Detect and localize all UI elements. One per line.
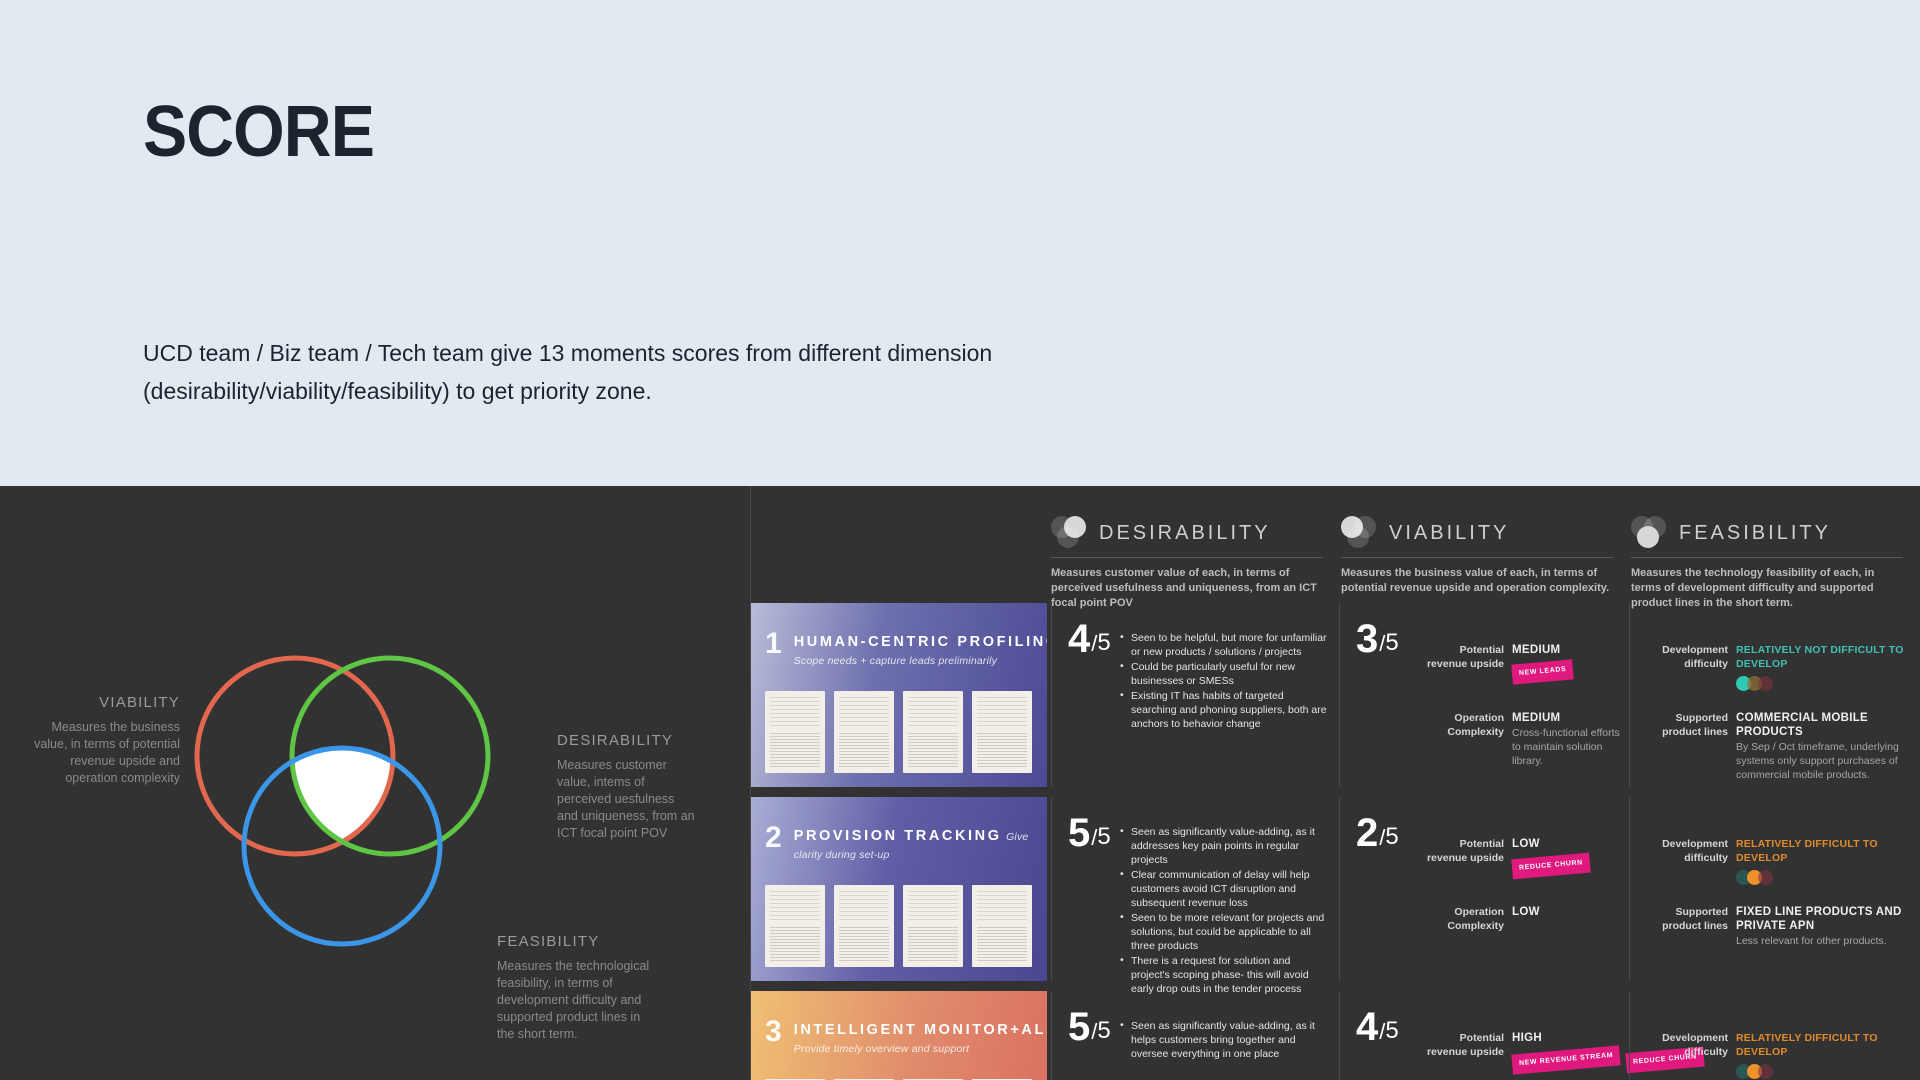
page-title: SCORE — [143, 96, 374, 168]
venn-label-feasibility-title: FEASIBILITY — [497, 933, 657, 950]
venn-diagram-panel: VIABILITY Measures the business value, i… — [0, 486, 750, 1080]
sketch-thumbnail — [834, 691, 894, 773]
desirability-score: 4/5 — [1068, 621, 1111, 657]
list-item: Existing IT has habits of targeted searc… — [1120, 689, 1329, 731]
moment-number: 2 — [765, 823, 782, 853]
sketch-thumbnail — [765, 691, 825, 773]
viability-score: 4/5 — [1356, 1009, 1399, 1045]
score-value: 2 — [1356, 815, 1378, 851]
moment-thumbnails — [765, 691, 1032, 773]
desirability-cell: 4/5 Seen to be helpful, but more for unf… — [1051, 603, 1339, 787]
revenue-tags: REDUCE CHURN — [1512, 856, 1590, 876]
development-difficulty-row: Development difficulty RELATIVELY DIFFIC… — [1644, 1031, 1913, 1079]
development-difficulty-row: Development difficulty RELATIVELY DIFFIC… — [1644, 837, 1913, 885]
venn-label-viability-title: VIABILITY — [30, 694, 180, 711]
sketch-thumbnail — [972, 691, 1032, 773]
score-denominator: 5 — [1097, 629, 1110, 657]
viability-cell: 3/5 Potential revenue upside MEDIUM NEW … — [1339, 603, 1629, 787]
list-item: Clear communication of delay will help c… — [1120, 868, 1329, 910]
score-denominator: 5 — [1097, 1017, 1110, 1045]
supported-product-lines-label: Supported product lines — [1644, 905, 1728, 948]
potential-revenue-label: Potential revenue upside — [1424, 643, 1504, 682]
venn-circles-icon — [1631, 516, 1669, 550]
development-difficulty-value: RELATIVELY NOT DIFFICULT TO DEVELOP — [1736, 644, 1904, 670]
table-row: 1 HUMAN-CENTRIC PROFILING Scope needs + … — [751, 603, 1920, 787]
supported-product-lines-value: FIXED LINE PRODUCTS AND PRIVATE APN — [1736, 906, 1902, 932]
moment-title: HUMAN-CENTRIC PROFILING — [794, 634, 1047, 650]
difficulty-dots-icon — [1736, 870, 1913, 885]
moment-thumbnails — [765, 885, 1032, 967]
operation-complexity-value: LOW — [1512, 906, 1540, 918]
list-item: Seen as significantly value-adding, as i… — [1120, 1019, 1329, 1061]
venn-label-feasibility: FEASIBILITY Measures the technological f… — [497, 933, 657, 1043]
venn-label-desirability-title: DESIRABILITY — [557, 732, 697, 749]
potential-revenue-value: LOW — [1512, 838, 1540, 850]
venn-label-desirability-body: Measures customer value, intems of perce… — [557, 757, 697, 842]
matrix-header: DESIRABILITY Measures customer value of … — [751, 486, 1920, 603]
viability-score: 2/5 — [1356, 815, 1399, 851]
score-denominator: 5 — [1385, 629, 1398, 657]
potential-revenue-row: Potential revenue upside MEDIUM NEW LEAD… — [1424, 643, 1621, 682]
operation-complexity-row: Operation Complexity MEDIUM Cross-functi… — [1424, 711, 1621, 768]
difficulty-dots-icon — [1736, 1064, 1913, 1079]
potential-revenue-value: MEDIUM — [1512, 644, 1560, 656]
sketch-thumbnail — [903, 691, 963, 773]
venn-circles-icon — [1051, 516, 1089, 550]
moment-card[interactable]: 2 PROVISION TRACKING Give clarity during… — [751, 797, 1047, 981]
score-denominator: 5 — [1385, 823, 1398, 851]
operation-complexity-label: Operation Complexity — [1424, 905, 1504, 933]
table-row: 3 INTELLIGENT MONITOR+ALERT Provide time… — [751, 991, 1920, 1080]
venn-circles-icon — [1341, 516, 1379, 550]
score-value: 4 — [1356, 1009, 1378, 1045]
feasibility-cell: Development difficulty RELATIVELY DIFFIC… — [1629, 991, 1920, 1080]
potential-revenue-label: Potential revenue upside — [1424, 1031, 1504, 1070]
status-badge: NEW REVENUE STREAM — [1511, 1045, 1621, 1074]
list-item: Seen as significantly value-adding, as i… — [1120, 825, 1329, 867]
dimension-header-feasibility: FEASIBILITY Measures the technology feas… — [1631, 516, 1903, 611]
operation-complexity-value: MEDIUM — [1512, 712, 1560, 724]
supported-product-lines-label: Supported product lines — [1644, 711, 1728, 782]
moment-subtitle: Scope needs + capture leads preliminaril… — [794, 655, 997, 667]
score-value: 5 — [1068, 815, 1090, 851]
dimension-title-desirability: DESIRABILITY — [1099, 522, 1271, 545]
score-board-section: VIABILITY Measures the business value, i… — [0, 486, 1920, 1080]
moment-number: 3 — [765, 1017, 782, 1047]
venn-label-viability-body: Measures the business value, in terms of… — [30, 719, 180, 787]
desirability-bullets: Seen as significantly value-adding, as i… — [1120, 1019, 1329, 1062]
divider — [1341, 557, 1613, 558]
feasibility-cell: Development difficulty RELATIVELY NOT DI… — [1629, 603, 1920, 787]
score-denominator: 5 — [1385, 1017, 1398, 1045]
moment-number: 1 — [765, 629, 782, 659]
development-difficulty-value: RELATIVELY DIFFICULT TO DEVELOP — [1736, 1032, 1878, 1058]
operation-complexity-note: Cross-functional efforts to maintain sol… — [1512, 726, 1621, 768]
moment-title: PROVISION TRACKING — [794, 828, 1002, 844]
venn-diagram — [175, 646, 505, 976]
moment-title: INTELLIGENT MONITOR+ALERT — [794, 1022, 1047, 1038]
sketch-thumbnail — [765, 885, 825, 967]
potential-revenue-value: HIGH — [1512, 1032, 1542, 1044]
desirability-bullets: Seen to be helpful, but more for unfamil… — [1120, 631, 1329, 732]
list-item: There is a request for solution and proj… — [1120, 954, 1329, 996]
development-difficulty-row: Development difficulty RELATIVELY NOT DI… — [1644, 643, 1913, 691]
sketch-thumbnail — [972, 885, 1032, 967]
dimension-title-viability: VIABILITY — [1389, 522, 1509, 545]
development-difficulty-label: Development difficulty — [1644, 643, 1728, 691]
viability-cell: 4/5 Potential revenue upside HIGH NEW RE… — [1339, 991, 1629, 1080]
page-description: UCD team / Biz team / Tech team give 13 … — [143, 334, 1203, 410]
difficulty-dots-icon — [1736, 676, 1913, 691]
sketch-thumbnail — [903, 885, 963, 967]
moment-card[interactable]: 1 HUMAN-CENTRIC PROFILING Scope needs + … — [751, 603, 1047, 787]
revenue-tags: NEW LEADS — [1512, 662, 1573, 682]
development-difficulty-label: Development difficulty — [1644, 1031, 1728, 1079]
divider — [1631, 557, 1903, 558]
list-item: Seen to be helpful, but more for unfamil… — [1120, 631, 1329, 659]
dimension-title-feasibility: FEASIBILITY — [1679, 522, 1831, 545]
supported-product-lines-note: By Sep / Oct timeframe, underlying syste… — [1736, 740, 1913, 782]
potential-revenue-row: Potential revenue upside HIGH NEW REVENU… — [1424, 1031, 1621, 1070]
dimension-header-viability: VIABILITY Measures the business value of… — [1341, 516, 1613, 596]
supported-product-lines-row: Supported product lines FIXED LINE PRODU… — [1644, 905, 1913, 948]
dimension-header-desirability: DESIRABILITY Measures customer value of … — [1051, 516, 1323, 611]
intro-section: SCORE UCD team / Biz team / Tech team gi… — [0, 0, 1920, 486]
venn-label-desirability: DESIRABILITY Measures customer value, in… — [557, 732, 697, 842]
supported-product-lines-note: Less relevant for other products. — [1736, 934, 1913, 948]
desirability-cell: 5/5 Seen as significantly value-adding, … — [1051, 991, 1339, 1080]
table-row: 2 PROVISION TRACKING Give clarity during… — [751, 797, 1920, 981]
score-matrix: DESIRABILITY Measures customer value of … — [750, 486, 1920, 1080]
list-item: Could be particularly useful for new bus… — [1120, 660, 1329, 688]
score-value: 4 — [1068, 621, 1090, 657]
viability-cell: 2/5 Potential revenue upside LOW REDUCE … — [1339, 797, 1629, 981]
supported-product-lines-row: Supported product lines COMMERCIAL MOBIL… — [1644, 711, 1913, 782]
moment-subtitle: Provide timely overview and support — [794, 1043, 970, 1055]
score-value: 3 — [1356, 621, 1378, 657]
desirability-cell: 5/5 Seen as significantly value-adding, … — [1051, 797, 1339, 981]
development-difficulty-value: RELATIVELY DIFFICULT TO DEVELOP — [1736, 838, 1878, 864]
list-item: Seen to be more relevant for projects an… — [1120, 911, 1329, 953]
moment-card[interactable]: 3 INTELLIGENT MONITOR+ALERT Provide time… — [751, 991, 1047, 1080]
operation-complexity-row: Operation Complexity LOW — [1424, 905, 1621, 933]
feasibility-cell: Development difficulty RELATIVELY DIFFIC… — [1629, 797, 1920, 981]
potential-revenue-row: Potential revenue upside LOW REDUCE CHUR… — [1424, 837, 1621, 876]
desirability-score: 5/5 — [1068, 815, 1111, 851]
venn-diagram-svg — [175, 646, 505, 976]
status-badge: REDUCE CHURN — [1511, 853, 1590, 880]
status-badge: NEW LEADS — [1511, 659, 1574, 684]
score-denominator: 5 — [1097, 823, 1110, 851]
venn-label-feasibility-body: Measures the technological feasibility, … — [497, 958, 657, 1043]
sketch-thumbnail — [834, 885, 894, 967]
supported-product-lines-value: COMMERCIAL MOBILE PRODUCTS — [1736, 712, 1868, 738]
score-value: 5 — [1068, 1009, 1090, 1045]
desirability-bullets: Seen as significantly value-adding, as i… — [1120, 825, 1329, 997]
dimension-desc-viability: Measures the business value of each, in … — [1341, 566, 1613, 596]
divider — [1051, 557, 1323, 558]
venn-label-viability: VIABILITY Measures the business value, i… — [30, 694, 180, 787]
potential-revenue-label: Potential revenue upside — [1424, 837, 1504, 876]
matrix-rows: 1 HUMAN-CENTRIC PROFILING Scope needs + … — [751, 603, 1920, 1080]
desirability-score: 5/5 — [1068, 1009, 1111, 1045]
operation-complexity-label: Operation Complexity — [1424, 711, 1504, 768]
viability-score: 3/5 — [1356, 621, 1399, 657]
development-difficulty-label: Development difficulty — [1644, 837, 1728, 885]
